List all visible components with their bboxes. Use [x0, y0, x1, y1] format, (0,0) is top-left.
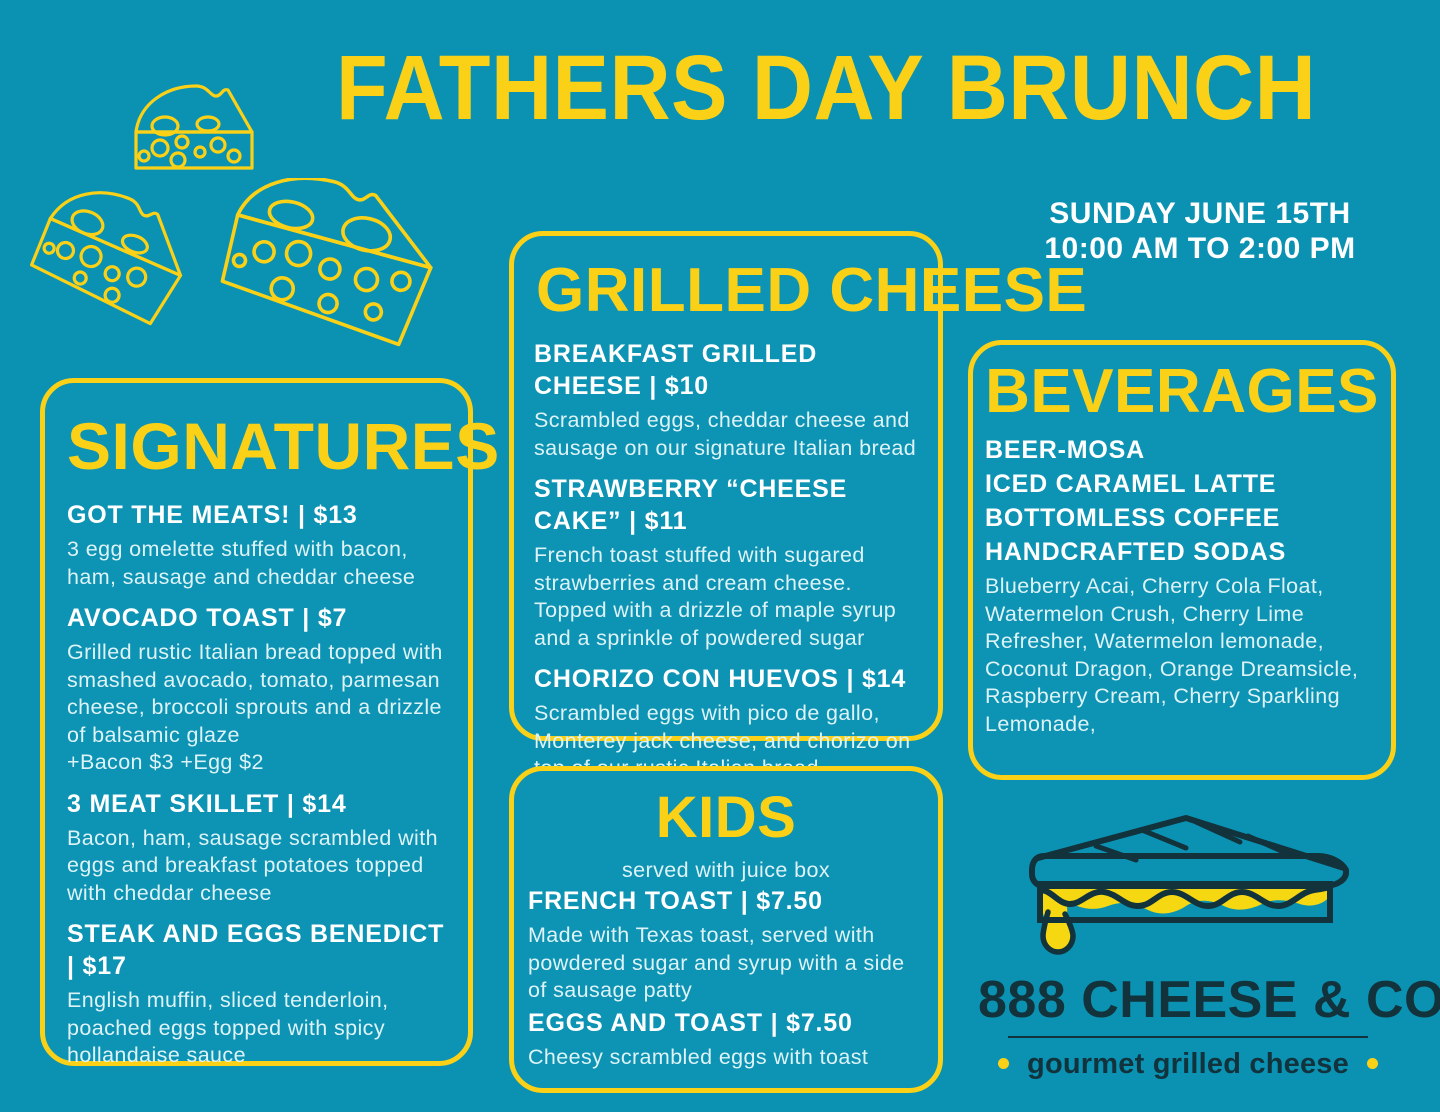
grilled-cheese-sandwich-icon — [1018, 812, 1358, 967]
grilled-cheese-item-list: BREAKFAST GRILLED CHEESE | $10 Scrambled… — [524, 338, 928, 783]
section-signatures: SIGNATURES GOT THE MEATS! | $13 3 egg om… — [40, 378, 473, 1066]
logo-tagline: gourmet grilled cheese — [978, 1045, 1398, 1083]
menu-item: STEAK AND EGGS BENEDICT | $17 English mu… — [67, 918, 446, 1070]
menu-item: AVOCADO TOAST | $7 Grilled rustic Italia… — [67, 602, 446, 777]
section-title-kids: KIDS — [528, 789, 924, 847]
kids-item-list: FRENCH TOAST | $7.50 Made with Texas toa… — [528, 885, 924, 1071]
menu-item-addons: +Bacon $3 +Egg $2 — [67, 749, 446, 777]
menu-item-description: Grilled rustic Italian bread topped with… — [67, 639, 446, 749]
menu-item-description: French toast stuffed with sugared strawb… — [534, 542, 918, 652]
logo-wordmark: 888 CHEESE & CO — [978, 972, 1398, 1028]
menu-item-description: 3 egg omelette stuffed with bacon, ham, … — [67, 536, 446, 591]
event-date: SUNDAY JUNE 15TH — [1000, 196, 1400, 231]
menu-item: BREAKFAST GRILLED CHEESE | $10 Scrambled… — [534, 338, 918, 462]
menu-item-name: AVOCADO TOAST | $7 — [67, 602, 446, 634]
menu-item: STRAWBERRY “CHEESE CAKE” | $11 French to… — [534, 473, 918, 652]
menu-item-description: Scrambled eggs, cheddar cheese and sausa… — [534, 407, 918, 462]
beverage-item: ICED CARAMEL LATTE — [985, 467, 1379, 501]
beverage-item: BEER-MOSA — [985, 433, 1379, 467]
menu-item-description: English muffin, sliced tenderloin, poach… — [67, 987, 446, 1070]
menu-item-name: 3 MEAT SKILLET | $14 — [67, 788, 446, 820]
menu-item-name: BREAKFAST GRILLED CHEESE | $10 — [534, 338, 918, 402]
cheese-wedge-icon — [130, 80, 290, 175]
menu-item-description: Cheesy scrambled eggs with toast — [528, 1044, 924, 1072]
menu-item: EGGS AND TOAST | $7.50 Cheesy scrambled … — [528, 1007, 924, 1072]
beverages-item-list: BEER-MOSA ICED CARAMEL LATTE BOTTOMLESS … — [985, 433, 1379, 738]
menu-item-description: Made with Texas toast, served with powde… — [528, 922, 924, 1005]
section-title-signatures: SIGNATURES — [67, 413, 446, 479]
menu-item: GOT THE MEATS! | $13 3 egg omelette stuf… — [67, 499, 446, 591]
section-kids: KIDS served with juice box FRENCH TOAST … — [509, 766, 943, 1093]
menu-item-name: STEAK AND EGGS BENEDICT | $17 — [67, 918, 446, 982]
logo-tagline-text: gourmet grilled cheese — [1027, 1048, 1349, 1080]
menu-item-name: FRENCH TOAST | $7.50 — [528, 885, 924, 917]
cheese-wedge-icon — [30, 190, 210, 340]
section-title-grilled-cheese: GRILLED CHEESE — [524, 260, 928, 322]
section-grilled-cheese: GRILLED CHEESE BREAKFAST GRILLED CHEESE … — [509, 231, 943, 741]
menu-item: CHORIZO CON HUEVOS | $14 Scrambled eggs … — [534, 663, 918, 783]
menu-item-description: Bacon, ham, sausage scrambled with eggs … — [67, 825, 446, 908]
beverage-item: BOTTOMLESS COFFEE — [985, 501, 1379, 535]
brand-logo: 888 CHEESE & CO gourmet grilled cheese — [978, 812, 1398, 1100]
menu-item: FRENCH TOAST | $7.50 Made with Texas toa… — [528, 885, 924, 1005]
bullet-dot-icon — [1367, 1058, 1378, 1069]
menu-item-name: EGGS AND TOAST | $7.50 — [528, 1007, 924, 1039]
kids-subtitle: served with juice box — [528, 857, 924, 883]
menu-item-name: STRAWBERRY “CHEESE CAKE” | $11 — [534, 473, 918, 537]
menu-item: 3 MEAT SKILLET | $14 Bacon, ham, sausage… — [67, 788, 446, 908]
menu-page: FATHERS DAY BRUNCH SUNDAY JUNE 15TH 10:0… — [0, 0, 1440, 1112]
section-title-beverages: BEVERAGES — [985, 361, 1379, 423]
section-beverages: BEVERAGES BEER-MOSA ICED CARAMEL LATTE B… — [968, 340, 1396, 780]
menu-item-name: GOT THE MEATS! | $13 — [67, 499, 446, 531]
signatures-item-list: GOT THE MEATS! | $13 3 egg omelette stuf… — [67, 499, 446, 1070]
beverage-item: HANDCRAFTED SODAS — [985, 535, 1379, 569]
logo-divider — [1008, 1036, 1368, 1038]
menu-item-name: CHORIZO CON HUEVOS | $14 — [534, 663, 918, 695]
soda-flavors-list: Blueberry Acai, Cherry Cola Float, Water… — [985, 573, 1379, 738]
bullet-dot-icon — [998, 1058, 1009, 1069]
page-title: FATHERS DAY BRUNCH — [336, 40, 1063, 136]
cheese-wedge-icon — [218, 178, 468, 363]
